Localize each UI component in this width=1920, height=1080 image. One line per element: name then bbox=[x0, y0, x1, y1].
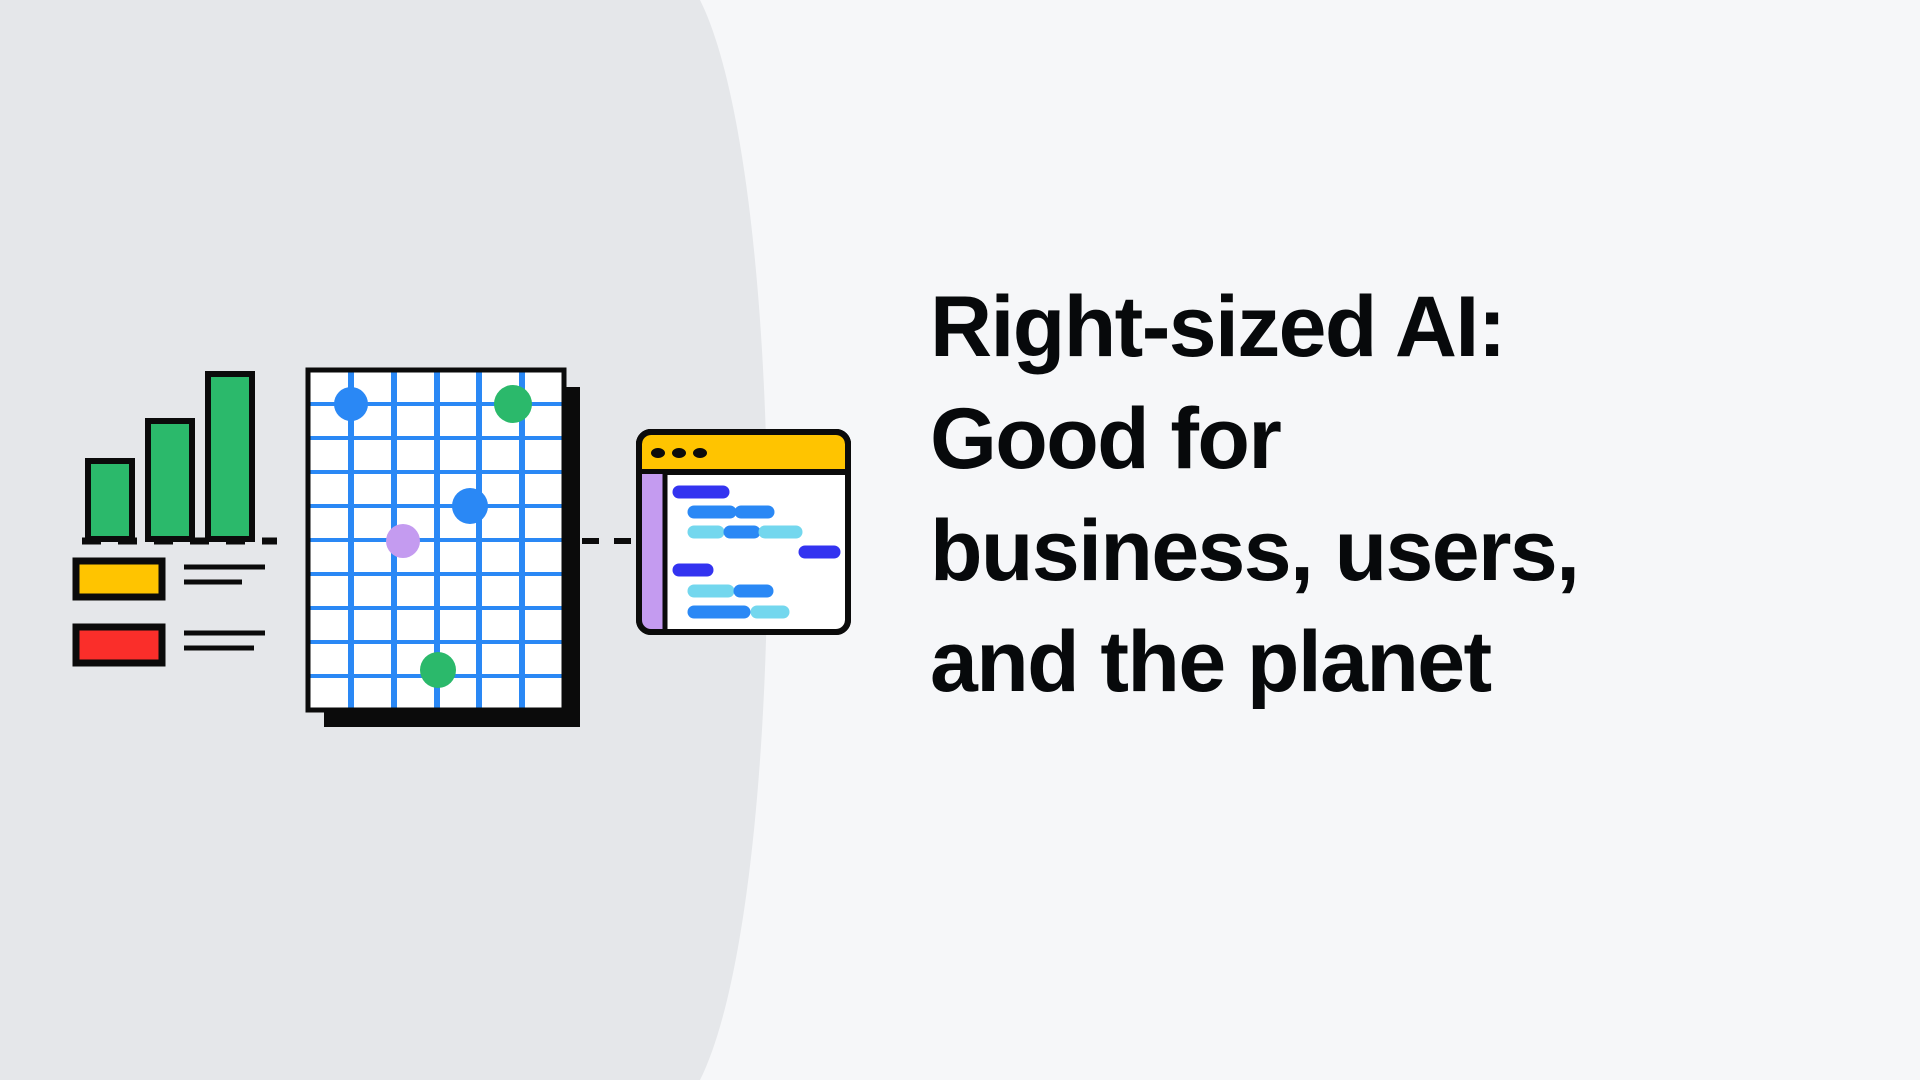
code-window-sidebar bbox=[642, 474, 664, 629]
scatter-point-blue-center bbox=[452, 488, 488, 524]
window-dot-1 bbox=[651, 448, 665, 458]
ai-model-sizing-illustration bbox=[0, 0, 880, 1080]
scatter-point-purple-center-left bbox=[386, 524, 420, 558]
legend-item-yellow bbox=[76, 561, 265, 597]
window-dot-2 bbox=[672, 448, 686, 458]
scatter-point-green-top-right bbox=[494, 385, 532, 423]
code-window-titlebar-dots bbox=[651, 448, 707, 458]
code-editor-window bbox=[639, 432, 848, 632]
scatter-point-green-bottom bbox=[420, 652, 456, 688]
legend-item-red bbox=[76, 627, 265, 663]
page-title: Right-sized AI: Good for business, users… bbox=[930, 272, 1830, 719]
window-dot-3 bbox=[693, 448, 707, 458]
legend-swatch-red bbox=[76, 627, 162, 663]
scatter-point-blue-top-left bbox=[334, 387, 368, 421]
headline-block: Right-sized AI: Good for business, users… bbox=[930, 272, 1830, 719]
metrics-bar-chart bbox=[88, 374, 252, 539]
page-stage: Right-sized AI: Good for business, users… bbox=[0, 0, 1920, 1080]
code-window-titlebar bbox=[639, 432, 848, 472]
bar-2 bbox=[148, 421, 192, 539]
bar-1 bbox=[88, 461, 132, 539]
model-scatter-grid bbox=[308, 370, 580, 727]
legend-swatch-yellow bbox=[76, 561, 162, 597]
bar-3 bbox=[208, 374, 252, 539]
